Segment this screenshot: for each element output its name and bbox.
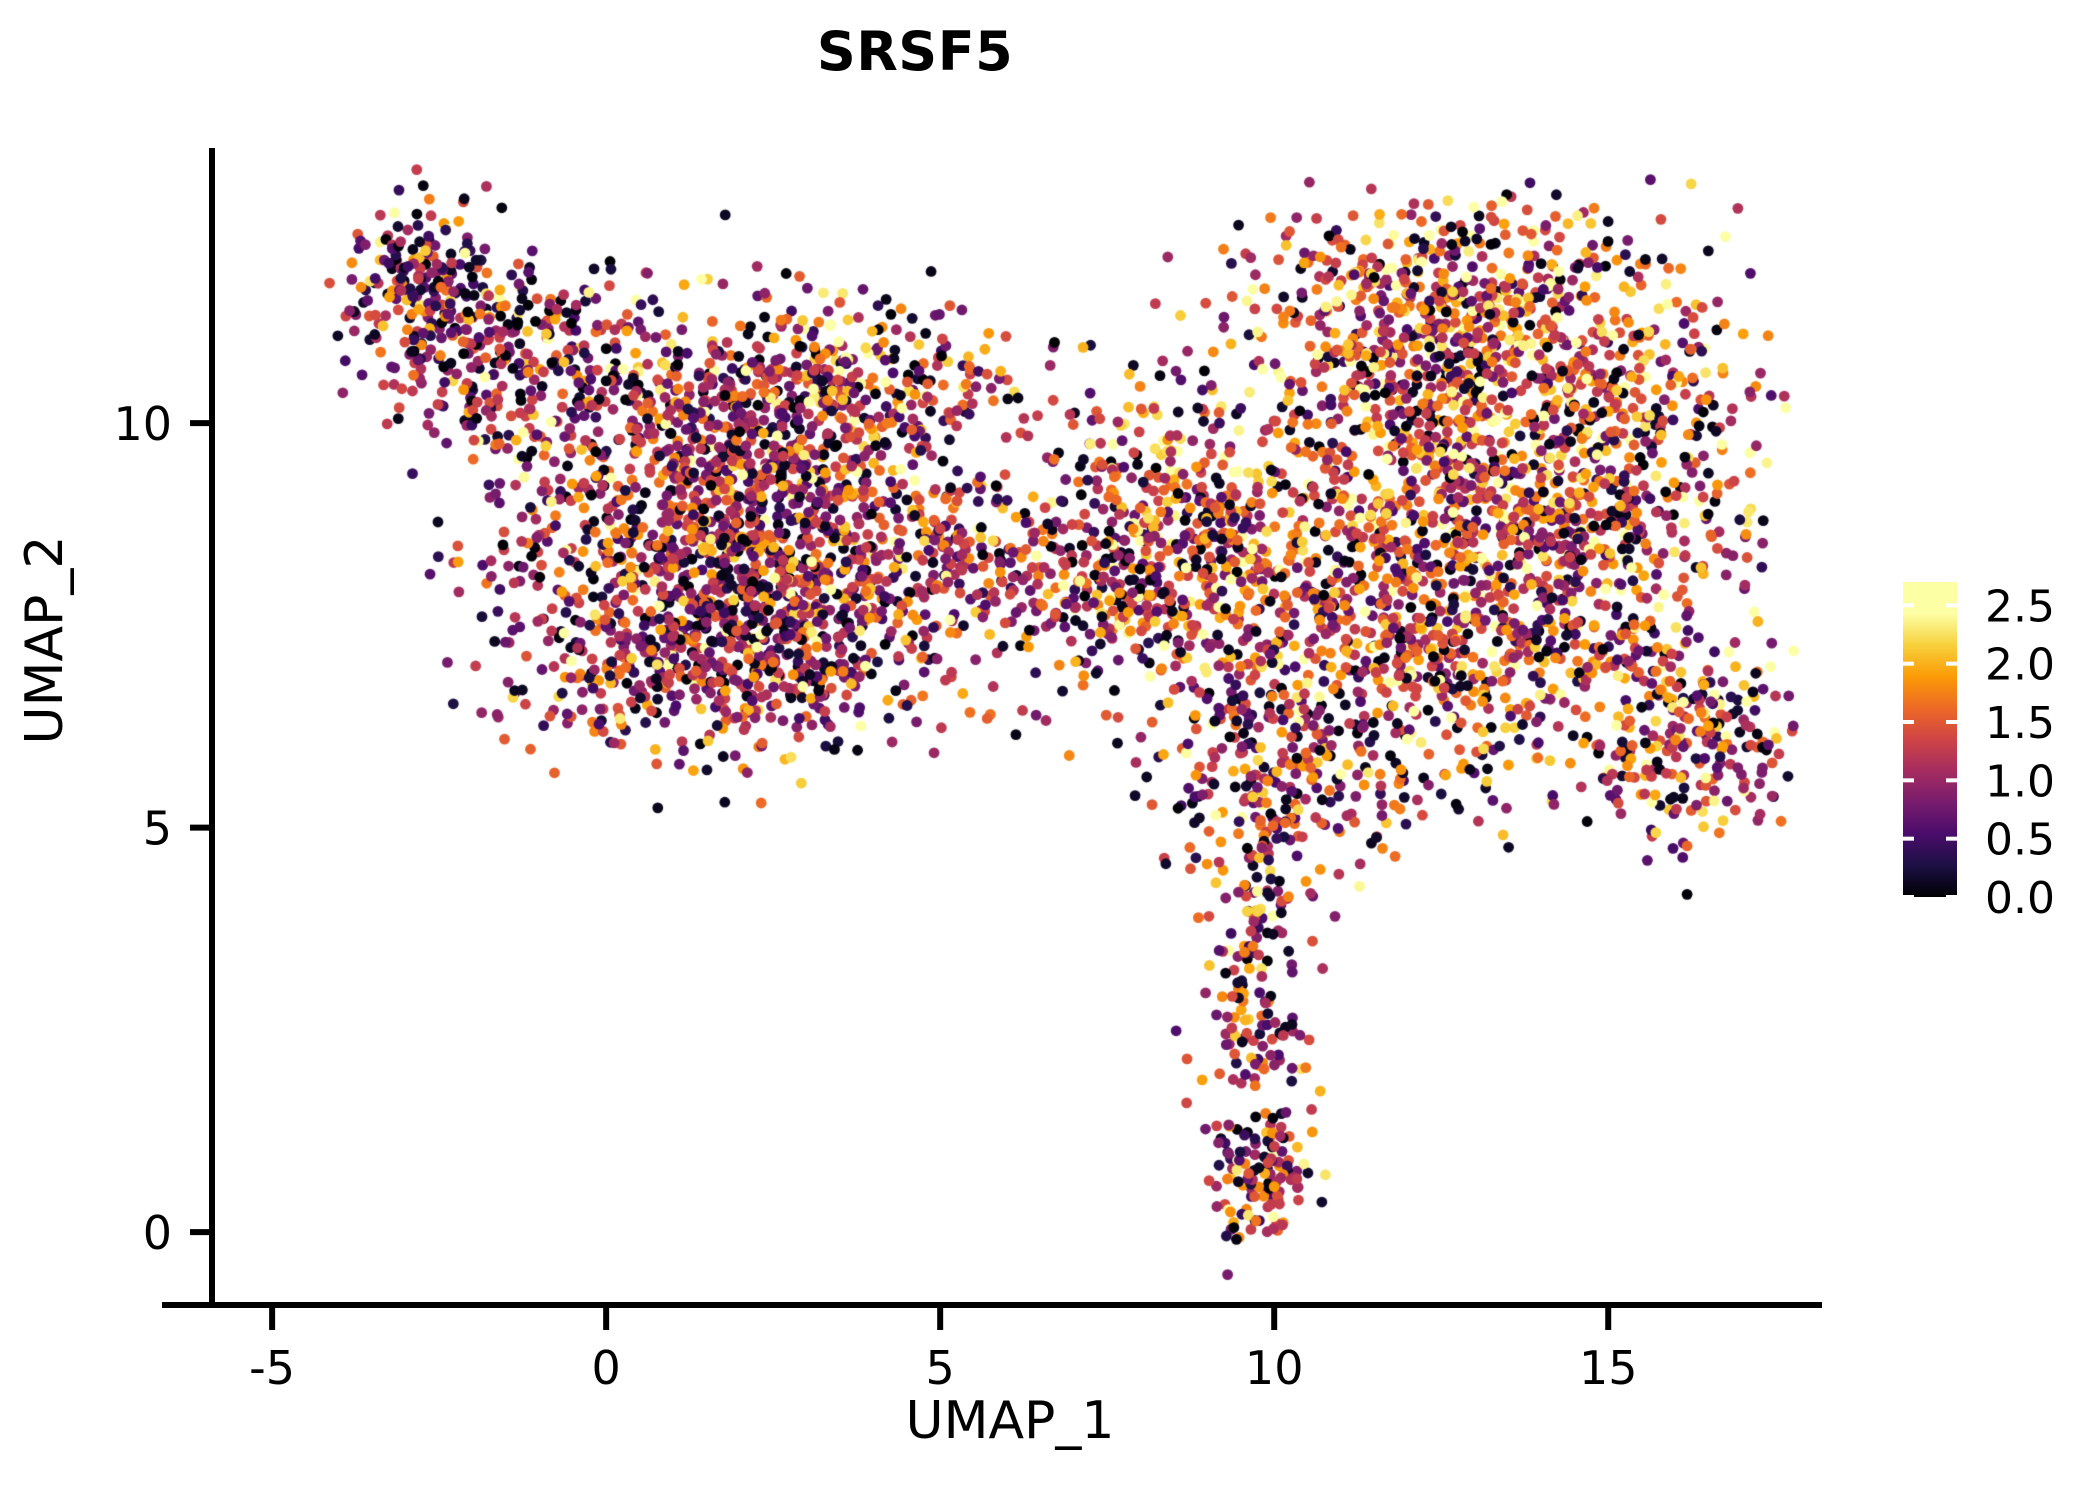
umap-feature-plot: SRSF5 0510 UMAP_2 -5051015 UMAP_1 0.00.5… bbox=[0, 0, 2100, 1500]
scatter-plot-canvas bbox=[0, 0, 2100, 1500]
